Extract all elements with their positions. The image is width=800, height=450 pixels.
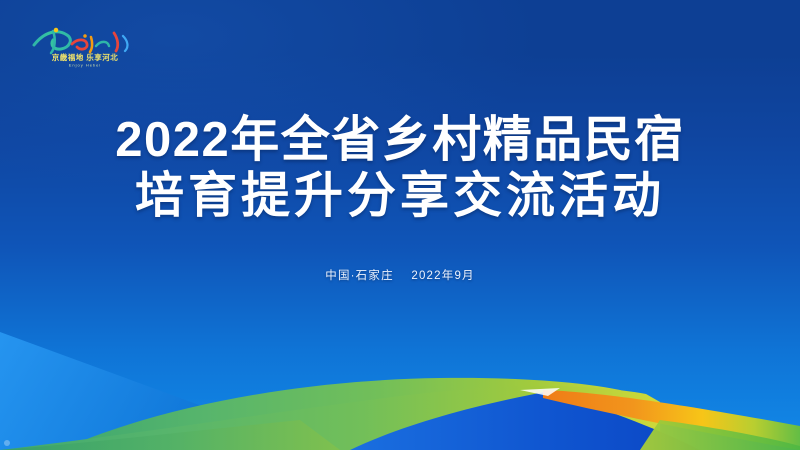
hebei-tourism-logo: 京畿福地 乐享河北 Enjoy Hebei (30, 22, 140, 68)
poster-canvas: 京畿福地 乐享河北 Enjoy Hebei 2022年全省乡村精品民宿 培育提升… (0, 0, 800, 450)
subtitle-container: 中国·石家庄 2022年9月 (0, 266, 800, 284)
title-line-2: 培育提升分享交流活动 (0, 168, 800, 224)
logo-english-slogan: Enjoy Hebei (69, 63, 102, 68)
logo-chinese-slogan: 京畿福地 乐享河北 (52, 52, 119, 62)
corner-dot (4, 440, 10, 446)
page-title: 2022年全省乡村精品民宿 培育提升分享交流活动 (0, 112, 800, 224)
logo-icon: 京畿福地 乐享河北 Enjoy Hebei (30, 22, 140, 68)
event-location-date: 中国·石家庄 2022年9月 (325, 267, 475, 283)
title-line-1: 2022年全省乡村精品民宿 (0, 112, 800, 168)
bottom-ribbon-waves (0, 310, 800, 450)
